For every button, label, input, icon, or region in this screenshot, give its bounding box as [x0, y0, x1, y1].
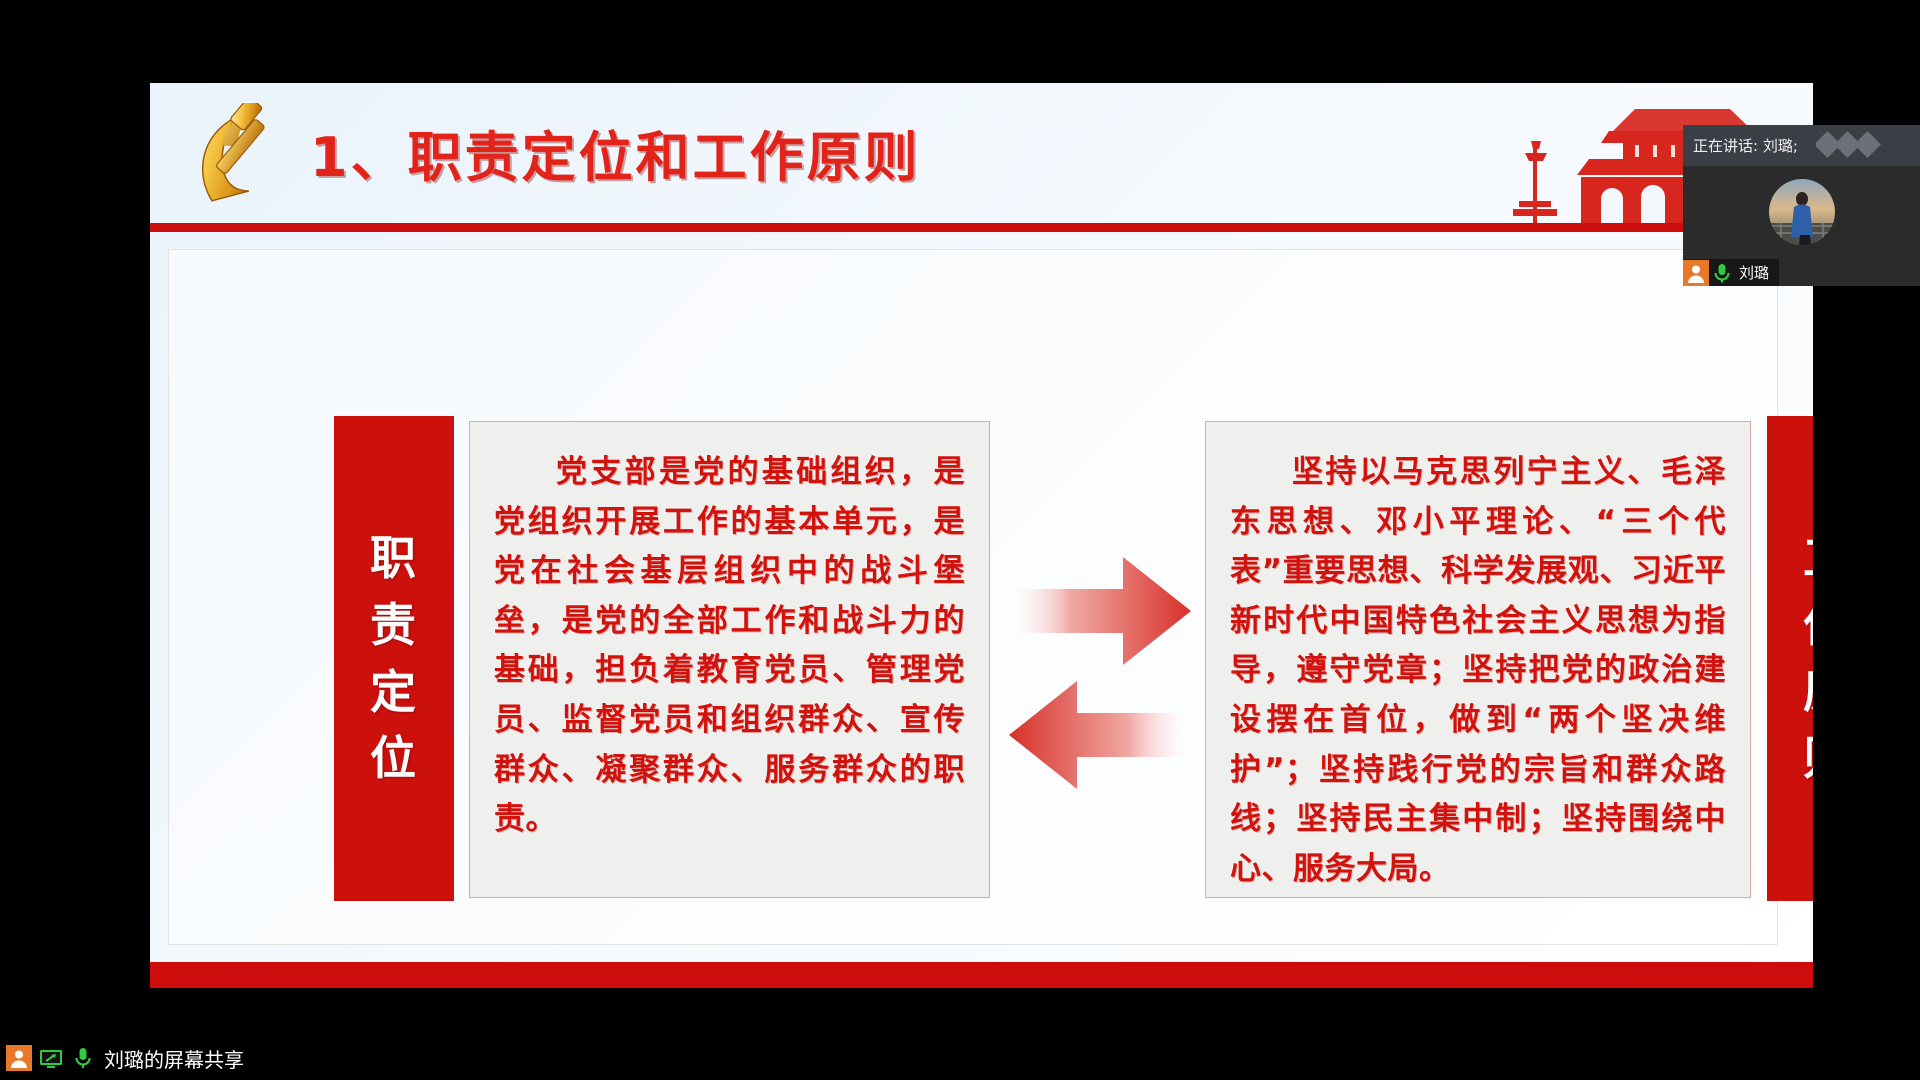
party-emblem-icon: [180, 103, 295, 213]
slide-header: 1、职责定位和工作原则: [150, 83, 1813, 223]
user-badge-icon[interactable]: [6, 1045, 32, 1071]
banner-char: 位: [370, 725, 418, 792]
speaking-label: 正在讲话: 刘璐;: [1693, 135, 1798, 156]
screen: 1、职责定位和工作原则: [0, 0, 1920, 1080]
screen-share-icon[interactable]: [38, 1045, 64, 1071]
taskbar-label: 刘璐的屏幕共享: [104, 1044, 244, 1073]
signal-waves-icon: [1816, 131, 1890, 161]
work-principles-text: 坚持以马克思列宁主义、毛泽东思想、邓小平理论、“三个代表”重要思想、科学发展观、…: [1230, 448, 1726, 894]
video-tile[interactable]: 刘璐: [1683, 166, 1920, 286]
banner-char: 则: [1803, 725, 1813, 792]
duty-position-textbox: 党支部是党的基础组织，是党组织开展工作的基本单元，是党在社会基层组织中的战斗堡垒…: [469, 421, 990, 898]
arrow-right-icon: [1007, 557, 1191, 665]
right-banner-work-principles: 工 作 原 则: [1767, 416, 1813, 901]
banner-char: 工: [1803, 525, 1813, 592]
microphone-icon[interactable]: [70, 1045, 96, 1071]
microphone-icon: [1709, 260, 1735, 286]
banner-char: 作: [1803, 592, 1813, 659]
page-title: 1、职责定位和工作原则: [310, 113, 921, 192]
bidirectional-arrows: [1005, 553, 1195, 793]
video-panel[interactable]: 正在讲话: 刘璐;: [1683, 125, 1920, 286]
duty-position-text: 党支部是党的基础组织，是党组织开展工作的基本单元，是党在社会基层组织中的战斗堡垒…: [494, 448, 965, 845]
work-principles-textbox: 坚持以马克思列宁主义、毛泽东思想、邓小平理论、“三个代表”重要思想、科学发展观、…: [1205, 421, 1751, 898]
header-divider: [150, 223, 1813, 232]
speaking-indicator-bar: 正在讲话: 刘璐;: [1683, 125, 1920, 166]
arrow-left-icon: [1009, 681, 1193, 789]
left-banner-duty-position: 职 责 定 位: [334, 416, 454, 901]
banner-char: 定: [370, 659, 418, 726]
presentation-slide: 1、职责定位和工作原则: [150, 83, 1813, 988]
banner-char: 原: [1803, 659, 1813, 726]
user-badge-icon: [1683, 260, 1709, 286]
banner-char: 责: [370, 592, 418, 659]
taskbar: 刘璐的屏幕共享: [0, 1036, 1920, 1080]
participant-name-chip: 刘璐: [1683, 259, 1779, 286]
participant-name: 刘璐: [1739, 262, 1769, 283]
banner-char: 职: [370, 525, 418, 592]
avatar: [1769, 179, 1835, 245]
slide-footer-bar: [150, 962, 1813, 988]
